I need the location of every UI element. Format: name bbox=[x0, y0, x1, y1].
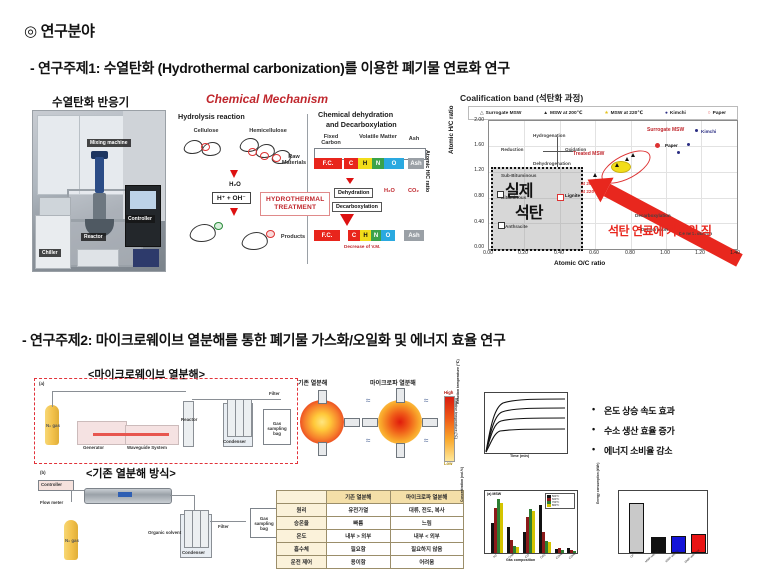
temp-curves-svg bbox=[485, 393, 567, 453]
photo-label-chiller: Chiller bbox=[39, 249, 61, 257]
paper-label: Paper bbox=[665, 143, 678, 148]
legend-marker-triangle-filled: ▲ bbox=[543, 111, 548, 116]
prod-o-block: O bbox=[381, 230, 395, 241]
hemi-highlight-1 bbox=[248, 148, 257, 156]
xtick-3: 0.60 bbox=[584, 250, 604, 256]
blue-equipment bbox=[133, 249, 159, 267]
byproduct-water: H₂O bbox=[384, 188, 395, 194]
chem-divider bbox=[307, 114, 308, 264]
filter-label-b: Filter bbox=[218, 524, 229, 529]
panel-a-label: (a) bbox=[39, 381, 44, 386]
conv-arrow-right bbox=[344, 418, 360, 427]
raw-ash-block: Ash bbox=[408, 158, 424, 169]
xtick-6: 1.20 bbox=[690, 250, 710, 256]
gas-legend-3: 800℃ bbox=[547, 504, 573, 507]
legend-msw-200: ▲MSW at 200℃ bbox=[543, 111, 582, 116]
xtick-7: 1.40 bbox=[725, 250, 745, 256]
page-title: ◎ 연구분야 bbox=[24, 20, 95, 41]
conventional-schematic: (b) Controller N₂ gas Flow meter Organic… bbox=[34, 468, 296, 566]
coalification-ylabel: Atomic H/C ratio bbox=[448, 106, 455, 154]
decarboxylation-step: Decarboxylation bbox=[332, 202, 382, 212]
energy-chart-ylabel: Energy consumption (kWh) bbox=[596, 463, 600, 504]
hydrothermal-treatment-box: HYDROTHERMAL TREATMENT bbox=[260, 192, 330, 216]
cell-4-2: 어려움 bbox=[390, 556, 463, 569]
cellulose-highlight bbox=[201, 143, 210, 151]
chem-side-axis-label: Atomic H/C ratio bbox=[424, 150, 430, 192]
photo-label-controller: Controller bbox=[125, 215, 155, 223]
step-arrow-bottom bbox=[340, 214, 354, 226]
reactor-photo-caption: 수열탄화 반응기 bbox=[52, 94, 129, 110]
table-row: 승온율 빠름 느림 bbox=[277, 517, 464, 530]
energy-plot-area bbox=[618, 490, 708, 554]
glucose-tag-red bbox=[266, 230, 275, 238]
flow-meter-label: Flow meter bbox=[40, 500, 63, 505]
raw-c-block: C bbox=[344, 158, 358, 169]
water-molecule: H₂O bbox=[222, 182, 248, 189]
legend-marker-dot: ● bbox=[665, 111, 668, 116]
xtick-2: 0.40 bbox=[549, 250, 569, 256]
ytick-1: 0.40 bbox=[466, 219, 484, 225]
row-label-raw: Raw Materials bbox=[280, 154, 308, 166]
col-header-fixed-carbon: Fixed Carbon bbox=[314, 134, 348, 146]
table-header-row: 기존 열분해 마이크로파 열분해 bbox=[277, 491, 464, 504]
real-coal-text-line2: 석탄 bbox=[515, 199, 542, 223]
coalification-title: Coalification band (석탄화 과정) bbox=[460, 92, 583, 104]
legend-marker-star: ★ bbox=[604, 111, 608, 116]
panel-b-label: (b) bbox=[40, 470, 46, 475]
cell-3-1: 필요함 bbox=[326, 543, 390, 556]
ytick-5: 2.00 bbox=[466, 117, 484, 123]
mol-label-cellulose: Cellulose bbox=[186, 128, 226, 134]
gas-chart-legend: 500℃ 600℃ 700℃ 800℃ bbox=[545, 493, 575, 509]
cell-4-0: 운전 제어 bbox=[277, 556, 327, 569]
annotation-cross-h bbox=[543, 151, 573, 152]
table-row: 흡수체 필요함 필요하지 않음 bbox=[277, 543, 464, 556]
prod-ash-block: Ash bbox=[404, 230, 424, 241]
n2-label-a: N₂ gas bbox=[46, 423, 60, 428]
coalification-chart: Coalification band (석탄화 과정) △Surrogate M… bbox=[446, 92, 752, 276]
surrogate-msw-label: Surrogate MSW bbox=[647, 127, 684, 133]
legend-paper: ○Paper bbox=[708, 111, 726, 116]
legend-label-0: Surrogate MSW bbox=[486, 111, 522, 116]
raw-h-block: H bbox=[358, 158, 372, 169]
legend-marker-triangle-open: △ bbox=[480, 111, 484, 116]
gas-bag-label-a: Gas sampling bag bbox=[265, 421, 289, 436]
table-row: 운전 제어 용이함 어려움 bbox=[277, 556, 464, 569]
kimchi-label: Kimchi bbox=[701, 129, 716, 134]
condenser-label-a: Condenser bbox=[223, 439, 246, 444]
n2-label-b: N₂ gas bbox=[65, 538, 79, 543]
legend-kimchi: ●Kimchi bbox=[665, 111, 686, 116]
bullet-0: 온도 상승 속도 효과 bbox=[604, 404, 674, 417]
table-header-1: 기존 열분해 bbox=[326, 491, 390, 504]
cell-0-1: 유전가열 bbox=[326, 504, 390, 517]
energy-consumption-chart: CP MWP with SiC MWP with FC MWP with Cha… bbox=[600, 484, 712, 572]
cell-2-1: 내부 > 외부 bbox=[326, 530, 390, 543]
xtick-1: 0.20 bbox=[513, 250, 533, 256]
real-coal-text-line1: 실제 bbox=[505, 177, 532, 201]
gas-plot-area: (a) MSW 500℃ 600℃ 700℃ 800℃ bbox=[484, 490, 578, 554]
reactor-column bbox=[183, 401, 194, 447]
mol-label-hemicellulose: Hemicellulose bbox=[242, 128, 294, 134]
row-label-products: Products bbox=[278, 234, 308, 240]
legend-marker-circle-open: ○ bbox=[708, 111, 711, 116]
rank-marker-2 bbox=[498, 222, 505, 229]
lignite-label: Lignite bbox=[565, 193, 580, 198]
gas-composition-chart: (a) MSW 500℃ 600℃ 700℃ 800℃ bbox=[466, 484, 582, 572]
lignite-marker bbox=[557, 194, 564, 201]
ytick-3: 1.20 bbox=[466, 167, 484, 173]
scale-low-label: Low bbox=[444, 461, 452, 466]
chem-title: Chemical Mechanism bbox=[206, 92, 328, 106]
prod-h-block: H bbox=[360, 230, 371, 241]
furnace-sample bbox=[118, 492, 132, 497]
ytick-4: 1.60 bbox=[466, 142, 484, 148]
mw-arrow-right bbox=[422, 418, 438, 427]
cell-3-0: 흡수체 bbox=[277, 543, 327, 556]
annotation-cross-v bbox=[557, 137, 558, 167]
chem-sub-hydrolysis: Hydrolysis reaction bbox=[178, 112, 245, 121]
filter-label-a: Filter bbox=[269, 391, 280, 396]
topic1-heading: - 연구주제1: 수열탄화 (Hydrothermal carbonizatio… bbox=[30, 58, 510, 78]
conv-arrow-top bbox=[318, 390, 327, 404]
treatment-line2: TREATMENT bbox=[266, 204, 324, 212]
mw-arrow-left bbox=[362, 418, 378, 427]
mw-arrow-bottom bbox=[396, 443, 405, 458]
dehydration-step: Dehydration bbox=[334, 188, 373, 198]
annotation-dehydrogenation: Dehydrogenation bbox=[533, 161, 571, 166]
microwave-heating-sphere bbox=[378, 400, 422, 444]
cell-0-0: 원리 bbox=[277, 504, 327, 517]
chem-footnote: Decrease of V.M. bbox=[344, 244, 380, 249]
legend-label-3: Kimchi bbox=[670, 111, 686, 116]
cell-1-0: 승온율 bbox=[277, 517, 327, 530]
xtick-4: 0.80 bbox=[620, 250, 640, 256]
heating-label-microwave: 마이크로파 열분해 bbox=[370, 378, 416, 387]
photo-label-mixing-machine: Mixing machine bbox=[87, 139, 131, 147]
treatment-line1: HYDROTHERMAL bbox=[266, 196, 324, 204]
prod-c-block: C bbox=[348, 230, 360, 241]
waveguide-line bbox=[93, 433, 169, 436]
xtick-5: 1.00 bbox=[655, 250, 675, 256]
hydrolysis-arrow-2 bbox=[230, 208, 238, 216]
glucose-tag-green bbox=[214, 222, 223, 230]
temp-chart-ylabel: Reaction temperature (℃) bbox=[456, 359, 460, 404]
byproduct-co2: CO₂ bbox=[408, 188, 419, 194]
organic-solvent-label: Organic solvent bbox=[148, 530, 181, 535]
chem-sub-dehydration: Chemical dehydration bbox=[318, 110, 393, 119]
legend-label-1: MSW at 200℃ bbox=[550, 111, 582, 116]
col-header-ash: Ash bbox=[404, 136, 424, 142]
scale-high-label: High bbox=[444, 390, 453, 395]
temperature-line-chart: Reaction temperature (℃) Time (min) bbox=[466, 388, 572, 468]
slide-root: ◎ 연구분야 - 연구주제1: 수열탄화 (Hydrothermal carbo… bbox=[0, 0, 768, 576]
waveguide-label: Waveguide System bbox=[127, 445, 167, 450]
col-header-volatile: Volatile Matter bbox=[358, 134, 398, 140]
chem-sub-decarboxylation: and Decarboxylation bbox=[326, 120, 397, 129]
ions-box: H⁺ + OH⁻ bbox=[212, 192, 251, 204]
topic2-heading: - 연구주제2: 마이크로웨이브 열분해를 통한 폐기물 가스화/오일화 및 에… bbox=[22, 330, 505, 350]
gas-chart-xlabel: Gas composition bbox=[506, 558, 535, 562]
bullet-2: 에너지 소비율 감소 bbox=[604, 444, 672, 457]
legend-label-4: Paper bbox=[713, 111, 726, 116]
conventional-heating-sphere bbox=[300, 400, 344, 444]
chiller-unit bbox=[35, 215, 71, 269]
reactor-photo: Mixing machine Reactor Controller Chille… bbox=[32, 110, 166, 272]
annotation-decarboxylation: Decarboxylation bbox=[635, 213, 671, 218]
gas-chart-ylabel: Concentration (vol.%) bbox=[460, 467, 464, 502]
table-row: 원리 유전가열 대류, 전도, 복사 bbox=[277, 504, 464, 517]
annotation-hydrogenation: Hydrogenation bbox=[533, 133, 565, 138]
legend-msw-220: ★MSW at 220℃ bbox=[604, 111, 643, 116]
conv-arrow-bottom bbox=[318, 442, 327, 456]
coalification-xlabel: Atomic O/C ratio bbox=[554, 260, 605, 267]
table-header-2: 마이크로파 열분해 bbox=[390, 491, 463, 504]
mixer-shaft bbox=[95, 157, 104, 193]
ytick-2: 0.80 bbox=[466, 193, 484, 199]
controller-label-b: Controller bbox=[41, 482, 62, 487]
window-decor bbox=[37, 115, 125, 195]
legend-label-2: MSW at 220℃ bbox=[611, 111, 643, 116]
microwave-schematic-box: (a) N₂ gas Generator Waveguide System Re… bbox=[34, 378, 298, 464]
prod-n-block: N bbox=[371, 230, 381, 241]
scale-axis-label: Relative temperature (℃) bbox=[454, 398, 458, 439]
treated-msw-label: Treated MSW bbox=[573, 151, 604, 157]
cell-1-1: 빠름 bbox=[326, 517, 390, 530]
raw-o-block: O bbox=[384, 158, 404, 169]
hydrolysis-arrow-1 bbox=[230, 170, 238, 178]
mw-arrow-top bbox=[396, 388, 405, 403]
step-arrow-top bbox=[346, 178, 354, 184]
hemi-highlight-2 bbox=[260, 152, 269, 160]
table-header-0 bbox=[277, 491, 327, 504]
cell-3-2: 필요하지 않음 bbox=[390, 543, 463, 556]
chemical-mechanism-figure: Chemical Mechanism Hydrolysis reaction C… bbox=[168, 92, 438, 274]
legend-surrogate-msw: △Surrogate MSW bbox=[480, 111, 521, 116]
raw-n-block: N bbox=[372, 158, 384, 169]
cell-1-2: 느림 bbox=[390, 517, 463, 530]
coalification-legend: △Surrogate MSW ▲MSW at 200℃ ★MSW at 220℃… bbox=[468, 106, 738, 120]
coalification-callout-text: 석탄 연료에 가까워 짐 bbox=[608, 222, 711, 239]
cell-2-0: 온도 bbox=[277, 530, 327, 543]
comparison-table: 기존 열분해 마이크로파 열분해 원리 유전가열 대류, 전도, 복사 승온율 … bbox=[276, 490, 464, 569]
temp-plot-area bbox=[484, 392, 568, 454]
rank-anthracite: Anthracite bbox=[505, 224, 528, 229]
photo-label-reactor: Reactor bbox=[81, 233, 106, 241]
heating-label-conventional: 기존 열분해 bbox=[298, 378, 327, 387]
bullet-1: 수소 생산 효율 증가 bbox=[604, 424, 674, 437]
reactor-label-a: Reactor bbox=[181, 417, 197, 422]
cell-2-2: 내부 < 외부 bbox=[390, 530, 463, 543]
xtick-0: 0.00 bbox=[478, 250, 498, 256]
gas-bag-label-b: Gas sampling bag bbox=[252, 516, 276, 531]
table-row: 온도 내부 > 외부 내부 < 외부 bbox=[277, 530, 464, 543]
msw220-cluster bbox=[611, 161, 631, 173]
raw-fc-block: F.C. bbox=[314, 158, 342, 169]
condenser-label-b: Condenser bbox=[182, 550, 205, 555]
annotation-reduction: Reduction bbox=[501, 147, 523, 152]
gas-chart-title: (a) MSW bbox=[487, 492, 501, 496]
cell-4-1: 용이함 bbox=[326, 556, 390, 569]
generator-label: Generator bbox=[83, 445, 104, 450]
prod-fc-block: F.C. bbox=[314, 230, 340, 241]
paper-stack bbox=[77, 249, 119, 267]
cell-0-2: 대류, 전도, 복사 bbox=[390, 504, 463, 517]
temp-chart-xlabel: Time (min) bbox=[510, 454, 529, 458]
rank-marker-1 bbox=[497, 191, 504, 198]
